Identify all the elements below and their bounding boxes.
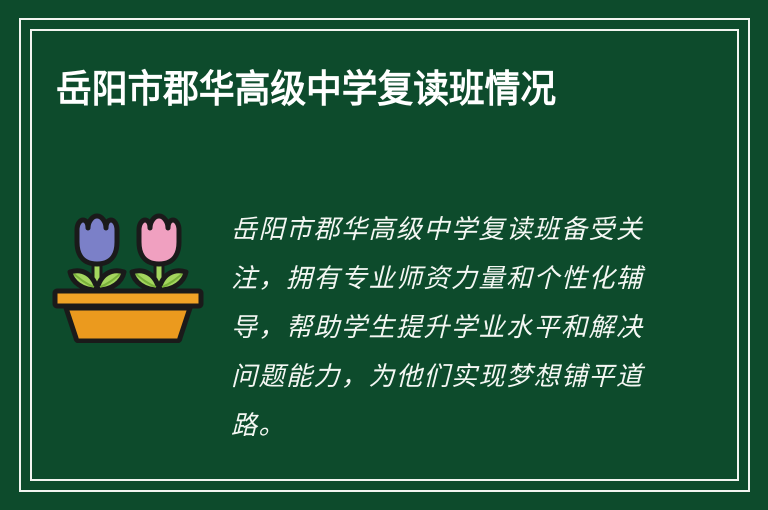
- page-title: 岳阳市郡华高级中学复读班情况: [56, 68, 556, 112]
- potted-tulips-icon: [52, 198, 204, 343]
- potted-tulips-illustration: [52, 198, 204, 343]
- content-area: 岳阳市郡华高级中学复读班备受关注，拥有专业师资力量和个性化辅导，帮助学生提升学业…: [0, 190, 768, 460]
- body-paragraph: 岳阳市郡华高级中学复读班备受关注，拥有专业师资力量和个性化辅导，帮助学生提升学业…: [231, 206, 661, 451]
- poster-canvas: 岳阳市郡华高级中学复读班情况: [0, 0, 768, 510]
